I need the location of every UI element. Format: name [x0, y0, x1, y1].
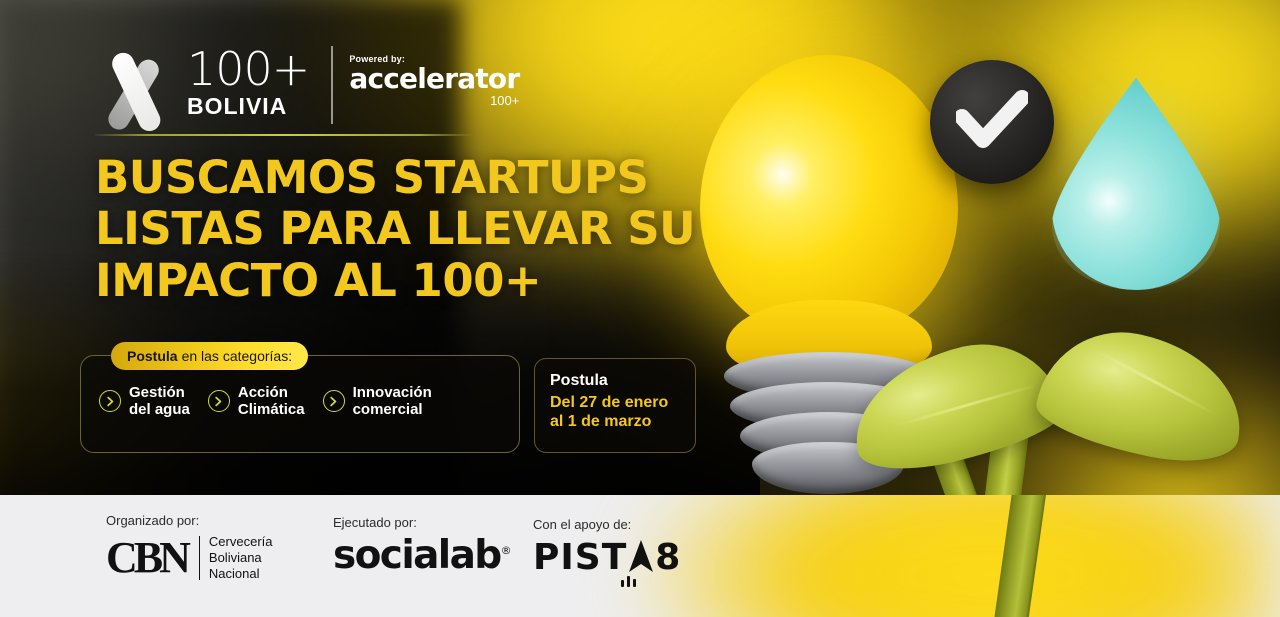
check-icon — [956, 90, 1028, 154]
logo-divider — [331, 46, 333, 124]
category-item-climate[interactable]: Acción Climática — [208, 384, 305, 418]
cbn-logo-mark: CBN — [106, 536, 187, 580]
category-label: Innovación comercial — [353, 384, 432, 418]
footer-organizer: Organizado por: CBN Cervecería Boliviana… — [106, 513, 272, 582]
powered-by-suffix: 100+ — [349, 93, 519, 108]
powered-by-block: Powered by: accelerator 100+ — [349, 54, 519, 108]
chevron-right-circle-icon — [208, 390, 230, 412]
headline: BUSCAMOS STARTUPS LISTAS PARA LLEVAR SU … — [95, 152, 695, 306]
category-item-water[interactable]: Gestión del agua — [99, 384, 190, 418]
dates-title: Postula — [550, 371, 695, 390]
category-label: Gestión del agua — [129, 384, 190, 418]
pista8-logo-suffix: 8 — [655, 540, 681, 576]
application-dates-card: Postula Del 27 de enero al 1 de marzo — [534, 358, 696, 453]
footer-logos: Organizado por: CBN Cervecería Boliviana… — [0, 495, 1280, 617]
categories-pill-bold: Postula — [127, 348, 178, 364]
headline-line-1: BUSCAMOS STARTUPS — [95, 152, 695, 203]
a-chevron-logo-icon — [95, 40, 181, 124]
chevron-right-circle-icon — [323, 390, 345, 412]
footer-bar: Organizado por: CBN Cervecería Boliviana… — [0, 495, 1280, 617]
socialab-logo-text: socialab — [333, 533, 501, 578]
headline-line-2: LISTAS PARA LLEVAR SU — [95, 203, 695, 254]
pista8-logo-prefix: PIST — [533, 540, 627, 576]
socialab-logo: socialab® — [333, 536, 512, 575]
cbn-logo: CBN Cervecería Boliviana Nacional — [106, 534, 272, 582]
executor-caption: Ejecutado por: — [333, 515, 512, 530]
plant-leaf-right — [1031, 318, 1255, 473]
check-badge-icon — [930, 60, 1054, 184]
categories-pill-rest: en las categorías: — [182, 348, 293, 364]
categories-pill-label: Postula en las categorías: — [111, 342, 308, 370]
dates-range: Del 27 de enero al 1 de marzo — [550, 393, 695, 431]
promo-banner: 100+ BOLIVIA Powered by: accelerator 100… — [0, 0, 1280, 617]
footer-executor: Ejecutado por: socialab® — [333, 515, 512, 575]
brand-country: BOLIVIA — [187, 93, 309, 120]
brand-logo-lockup: 100+ BOLIVIA Powered by: accelerator 100… — [95, 40, 519, 124]
socialab-trademark: ® — [501, 544, 512, 557]
footer-supporter: Con el apoyo de: PIST 8 — [533, 517, 681, 577]
cbn-logo-rule — [199, 536, 200, 580]
pista8-logo: PIST 8 — [533, 538, 681, 577]
brand-name-100: 100+ — [187, 48, 309, 90]
powered-by-name: accelerator — [349, 65, 519, 93]
cbn-logo-words: Cervecería Boliviana Nacional — [209, 534, 273, 582]
category-item-innovation[interactable]: Innovación comercial — [323, 384, 432, 418]
categories-card: Postula en las categorías: Gestión del a… — [80, 355, 520, 453]
pista8-tick-marks — [621, 576, 636, 587]
header-divider-line — [95, 134, 473, 136]
organizer-caption: Organizado por: — [106, 513, 272, 528]
chevron-right-circle-icon — [99, 390, 121, 412]
up-arrow-icon — [628, 539, 654, 578]
categories-list: Gestión del agua Acción Climática Innova… — [99, 384, 432, 418]
category-label: Acción Climática — [238, 384, 305, 418]
headline-line-3: IMPACTO AL 100+ — [95, 255, 695, 306]
supporter-caption: Con el apoyo de: — [533, 517, 681, 532]
brand-name-block: 100+ BOLIVIA — [187, 48, 309, 120]
